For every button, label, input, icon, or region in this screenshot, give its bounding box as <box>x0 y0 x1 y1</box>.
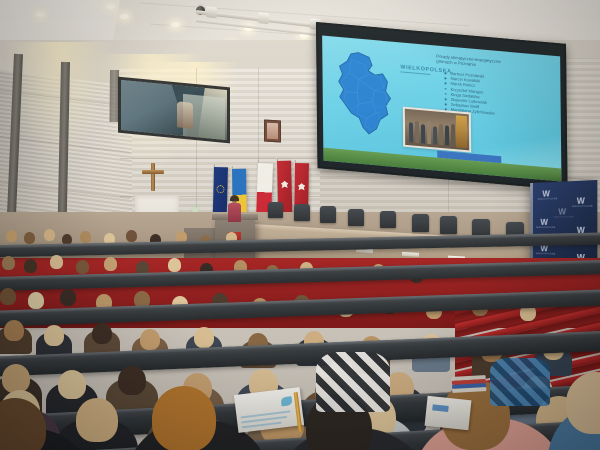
booklet-stack[interactable] <box>452 375 487 393</box>
speaker-at-podium <box>227 196 242 222</box>
photo-scene: WIELKOPOLSKA Porady klimatyczno-energety… <box>0 0 600 450</box>
notepad-logo-icon <box>281 396 293 406</box>
downlight <box>36 12 45 17</box>
slide-logo: WIELKOPOLSKA <box>400 64 444 80</box>
printed-handout[interactable] <box>425 396 472 430</box>
control-room-window <box>118 77 230 144</box>
attendee-blue-plaid <box>490 358 550 406</box>
projection-screen: WIELKOPOLSKA Porady klimatyczno-energety… <box>316 22 568 190</box>
slide-group-photo <box>403 107 471 153</box>
wall-cross-icon <box>142 163 164 191</box>
map-graphic <box>329 48 398 140</box>
attendee-checked-shirt <box>316 352 390 412</box>
framed-emblem <box>264 120 281 143</box>
slide-surface: WIELKOPOLSKA Porady klimatyczno-energety… <box>322 36 561 182</box>
downlight <box>120 14 129 19</box>
banner-logo-subtitle: WIELKOPOLSKA <box>538 198 554 202</box>
downlight <box>106 4 115 9</box>
downlight <box>171 22 180 27</box>
